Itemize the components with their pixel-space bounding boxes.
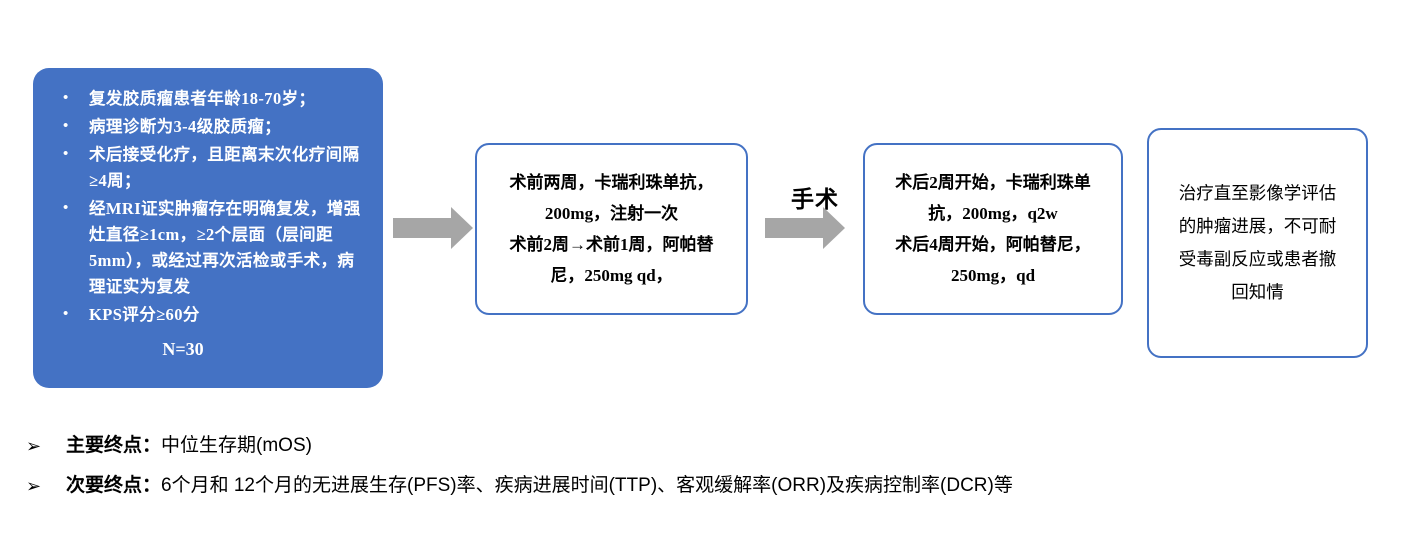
sample-size-label: N=30 (43, 334, 369, 364)
post-surgery-treatment-text: 术后2周开始，卡瑞利珠单 抗，200mg，q2w 术后4周开始，阿帕替尼， 25… (887, 167, 1099, 291)
eligibility-criteria-list: 复发胶质瘤患者年龄18-70岁； 病理诊断为3-4级胶质瘤； 术后接受化疗，且距… (43, 86, 369, 328)
primary-endpoint-value: 中位生存期(mOS) (161, 432, 1386, 460)
list-item: 经MRI证实肿瘤存在明确复发，增强灶直径≥1cm，≥2个层面（层间距5mm），或… (43, 196, 369, 300)
pre-surgery-treatment-text: 术前两周，卡瑞利珠单抗， 200mg，注射一次 术前2周→术前1周，阿帕替 尼，… (502, 167, 722, 291)
list-item: 术后接受化疗，且距离末次化疗间隔≥4周； (43, 142, 369, 194)
arrowhead-bullet-icon: ➢ (26, 472, 66, 500)
pre-surgery-treatment-box: 术前两周，卡瑞利珠单抗， 200mg，注射一次 术前2周→术前1周，阿帕替 尼，… (475, 143, 748, 315)
arrow-right-icon (765, 218, 823, 238)
secondary-endpoint-row: ➢ 次要终点： 6个月和 12个月的无进展生存(PFS)率、疾病进展时间(TTP… (26, 472, 1386, 500)
arrowhead-bullet-icon: ➢ (26, 432, 66, 460)
primary-endpoint-label: 主要终点： (66, 432, 161, 460)
arrow-right-icon (393, 218, 451, 238)
primary-endpoint-row: ➢ 主要终点： 中位生存期(mOS) (26, 432, 1386, 460)
list-item: 病理诊断为3-4级胶质瘤； (43, 114, 369, 140)
list-item: KPS评分≥60分 (43, 302, 369, 328)
list-item: 复发胶质瘤患者年龄18-70岁； (43, 86, 369, 112)
eligibility-criteria-box: 复发胶质瘤患者年龄18-70岁； 病理诊断为3-4级胶质瘤； 术后接受化疗，且距… (33, 68, 383, 388)
trial-flow-diagram: 复发胶质瘤患者年龄18-70岁； 病理诊断为3-4级胶质瘤； 术后接受化疗，且距… (0, 0, 1412, 542)
post-surgery-treatment-box: 术后2周开始，卡瑞利珠单 抗，200mg，q2w 术后4周开始，阿帕替尼， 25… (863, 143, 1123, 315)
endpoints-section: ➢ 主要终点： 中位生存期(mOS) ➢ 次要终点： 6个月和 12个月的无进展… (26, 432, 1386, 512)
treatment-until-progression-box: 治疗直至影像学评估 的肿瘤进展，不可耐 受毒副反应或患者撤 回知情 (1147, 128, 1368, 358)
treatment-until-progression-text: 治疗直至影像学评估 的肿瘤进展，不可耐 受毒副反应或患者撤 回知情 (1169, 177, 1347, 309)
secondary-endpoint-label: 次要终点： (66, 472, 161, 500)
secondary-endpoint-value: 6个月和 12个月的无进展生存(PFS)率、疾病进展时间(TTP)、客观缓解率(… (161, 472, 1386, 500)
